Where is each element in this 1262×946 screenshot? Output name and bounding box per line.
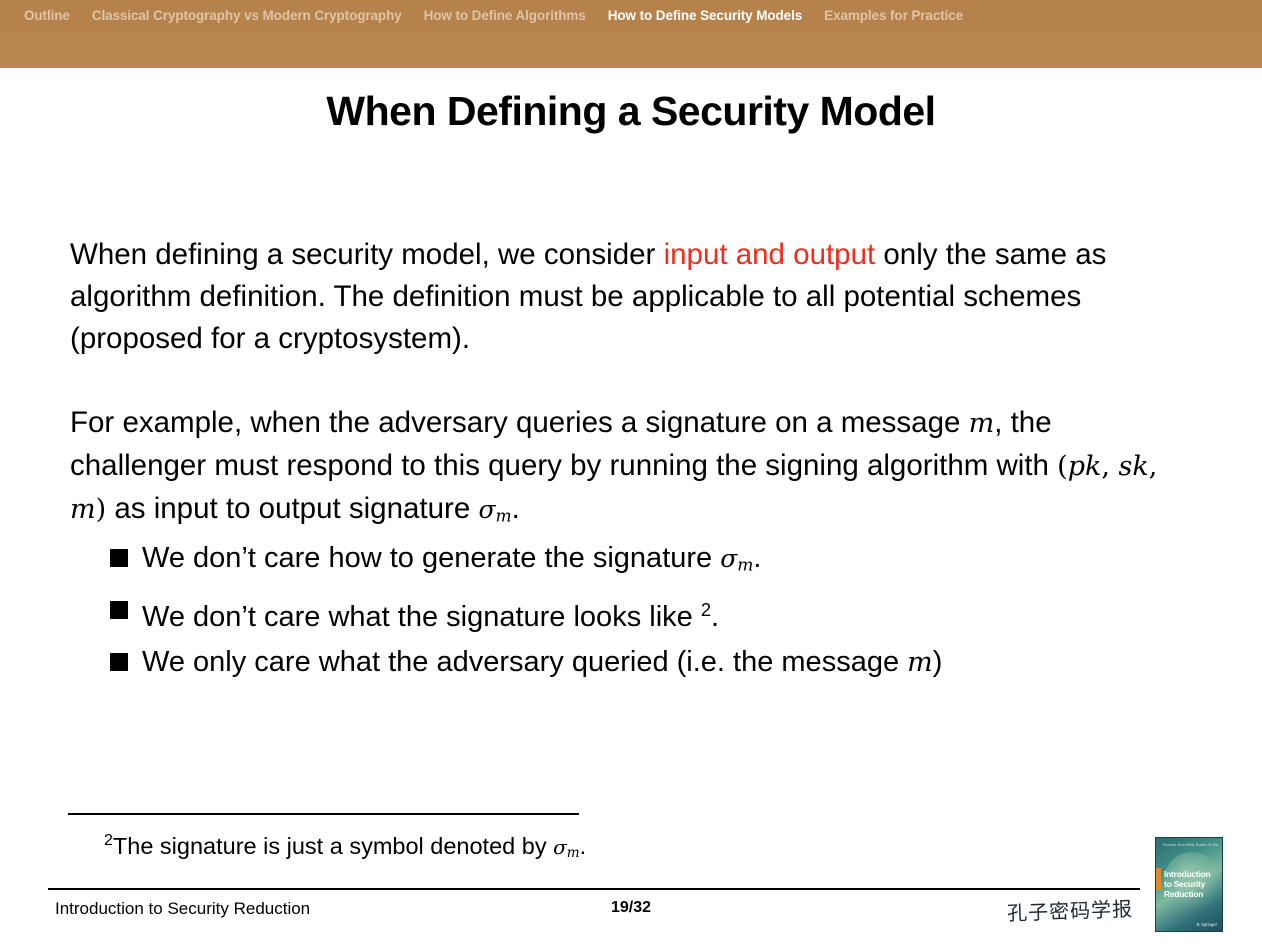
math-message-m: m <box>907 647 933 678</box>
paragraph1-highlight-input-output: input and output <box>664 238 876 271</box>
math-sigma-m: σm <box>720 544 753 573</box>
footnote-mark: 2 <box>104 832 113 849</box>
book-cover-title-line-2: to Security <box>1164 879 1220 889</box>
bullet-3-before: We only care what the adversary queried … <box>142 646 907 678</box>
math-paren-close: ) <box>96 494 107 525</box>
bullet-2-after: . <box>711 601 719 633</box>
footnote-body-before: The signature is just a symbol denoted b… <box>113 833 553 859</box>
sigma-glyph: σ <box>720 544 737 573</box>
paragraph2-part3: as input to output signature <box>106 492 478 525</box>
paragraph2-part4: . <box>512 492 520 525</box>
bullet-list: We don’t care how to generate the signat… <box>110 538 1180 694</box>
sigma-glyph: σ <box>478 495 495 524</box>
book-cover-title: Introduction to Security Reduction <box>1164 869 1220 899</box>
square-bullet-icon <box>110 549 128 567</box>
footer-separator-rule <box>48 888 1140 890</box>
nav-item-outline[interactable]: Outline <box>24 8 70 23</box>
book-cover-spine-accent <box>1156 868 1161 890</box>
bullet-3-after: ) <box>933 646 943 678</box>
math-paren-open: ( <box>1057 451 1068 482</box>
math-comma-2: , <box>1149 451 1158 482</box>
book-cover-title-line-3: Reduction <box>1164 889 1220 899</box>
math-comma-1: , <box>1101 451 1118 482</box>
book-cover-title-line-1: Introduction <box>1164 869 1220 879</box>
journal-calligraphy-logo: 孔子密码学报 <box>999 891 1140 928</box>
footnote-body-after: . <box>580 833 587 859</box>
slide-title: When Defining a Security Model <box>0 88 1262 135</box>
bullet-3-text: We only care what the adversary queried … <box>142 642 942 683</box>
book-cover-publisher: ⑨ Springer <box>1196 922 1217 927</box>
navbar-lower-strip <box>0 31 1262 68</box>
bullet-2-text: We don’t care what the signature looks l… <box>142 590 719 637</box>
paragraph1-part1: When defining a security model, we consi… <box>70 238 664 271</box>
square-bullet-icon <box>110 601 128 619</box>
bullet-1-after: . <box>753 542 761 574</box>
nav-item-how-to-define-security-models[interactable]: How to Define Security Models <box>608 8 802 23</box>
navbar: Outline Classical Cryptography vs Modern… <box>0 0 1262 31</box>
list-item: We don’t care how to generate the signat… <box>110 538 1180 590</box>
list-item: We don’t care what the signature looks l… <box>110 590 1180 642</box>
book-cover-thumbnail: Fuchun Guo Willy Susilo Yi Mu Introducti… <box>1155 837 1223 932</box>
footnote-separator-rule <box>68 813 579 815</box>
bullet-1-text: We don’t care how to generate the signat… <box>142 538 761 586</box>
math-message-m: m <box>969 408 995 439</box>
bullet-2-before: We don’t care what the signature looks l… <box>142 601 701 633</box>
footnote: 2The signature is just a symbol denoted … <box>104 826 586 868</box>
paragraph2-part1: For example, when the adversary queries … <box>70 406 969 439</box>
sigma-subscript: m <box>737 556 753 576</box>
math-sigma-m: σm <box>553 835 580 859</box>
math-sk: sk <box>1119 451 1149 482</box>
sigma-subscript: m <box>567 845 580 861</box>
math-pk: pk <box>1068 451 1102 482</box>
nav-item-how-to-define-algorithms[interactable]: How to Define Algorithms <box>424 8 586 23</box>
bullet-1-before: We don’t care how to generate the signat… <box>142 542 720 574</box>
footnote-reference-marker[interactable]: 2 <box>701 599 711 620</box>
paragraph-signature-query-example: For example, when the adversary queries … <box>70 402 1180 538</box>
square-bullet-icon <box>110 653 128 671</box>
sigma-subscript: m <box>496 507 512 527</box>
nav-item-classical-vs-modern[interactable]: Classical Cryptography vs Modern Cryptog… <box>92 8 402 23</box>
nav-item-examples-for-practice[interactable]: Examples for Practice <box>824 8 963 23</box>
paragraph-security-model-definition: When defining a security model, we consi… <box>70 234 1180 360</box>
math-m: m <box>70 494 96 525</box>
sigma-glyph: σ <box>553 835 567 859</box>
list-item: We only care what the adversary queried … <box>110 642 1180 694</box>
math-sigma-m: σm <box>478 495 511 524</box>
book-cover-authors: Fuchun Guo Willy Susilo Yi Mu <box>1163 843 1218 847</box>
